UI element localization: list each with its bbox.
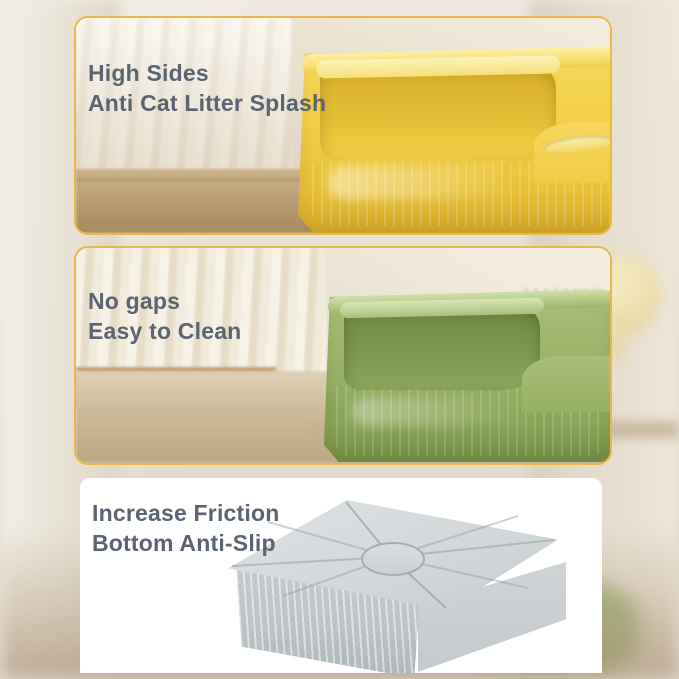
- caption-anti-slip-line-2: Bottom Anti-Slip: [92, 528, 279, 558]
- litter-box-green-highlight: [352, 398, 512, 426]
- litter-box-gray-center-ring: [361, 542, 425, 576]
- product-feature-collage: High Sides Anti Cat Litter Splash No gap…: [0, 0, 679, 679]
- caption-anti-slip-line-1: Increase Friction: [92, 498, 279, 528]
- litter-box-green-entry-notch: [522, 356, 612, 412]
- litter-box-yellow: [298, 48, 612, 234]
- caption-no-gaps: No gaps Easy to Clean: [88, 286, 241, 347]
- panel-no-gaps: [74, 246, 612, 465]
- litter-box-green-interior: [344, 306, 540, 390]
- caption-no-gaps-line-1: No gaps: [88, 286, 241, 316]
- litter-box-yellow-interior: [320, 64, 556, 160]
- panel-high-sides: [74, 16, 612, 235]
- caption-no-gaps-line-2: Easy to Clean: [88, 316, 241, 346]
- litter-box-green: [324, 290, 612, 462]
- caption-high-sides-line-2: Anti Cat Litter Splash: [88, 88, 326, 118]
- litter-box-yellow-highlight: [328, 166, 518, 200]
- caption-high-sides-line-1: High Sides: [88, 58, 326, 88]
- caption-anti-slip: Increase Friction Bottom Anti-Slip: [92, 498, 279, 559]
- caption-high-sides: High Sides Anti Cat Litter Splash: [88, 58, 326, 119]
